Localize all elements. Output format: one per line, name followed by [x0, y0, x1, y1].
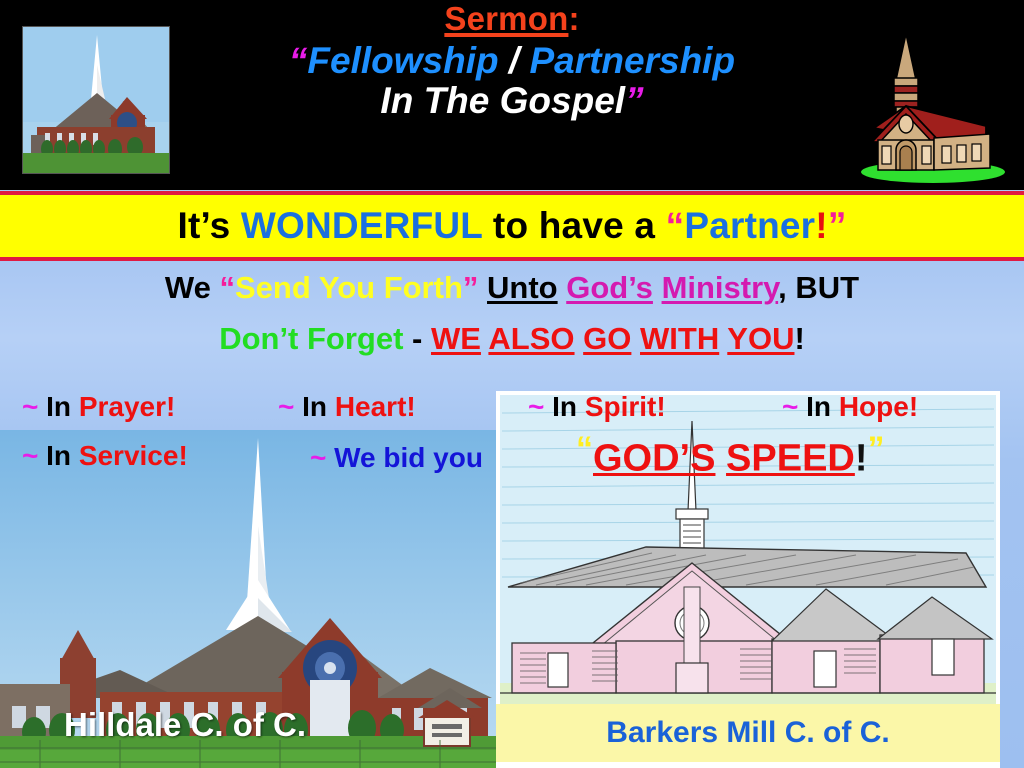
banner-seg-wonderful: WONDERFUL — [241, 205, 483, 246]
sermon-colon: : — [568, 0, 579, 37]
bullet-prayer: ~ In Prayer! — [22, 391, 175, 423]
bullet-hope-in: In — [798, 391, 838, 422]
sub1-space-2 — [558, 270, 567, 305]
sermon-title-line-1: “Fellowship / Partnership — [180, 42, 844, 80]
bullet-heart-word: Heart — [335, 391, 407, 422]
banner-seg-partner: Partner — [684, 205, 815, 246]
sub1-send-you-forth: Send You Forth — [235, 270, 463, 305]
gods-speed-word-2: SPEED — [726, 437, 855, 479]
bullet-tilde-icon: ~ — [310, 442, 326, 473]
title-in-the-gospel: In The Gospel — [380, 80, 625, 121]
quote-close-icon: ” — [625, 80, 644, 121]
sub2-dash: - — [403, 321, 431, 356]
bullet-tilde-icon: ~ — [782, 391, 798, 422]
sub2-also: ALSO — [488, 321, 574, 356]
gods-speed-quote-open-icon: “ — [576, 430, 593, 468]
bullet-prayer-in: In — [38, 391, 78, 422]
bullet-spirit-bang: ! — [656, 391, 665, 422]
header-church-photo — [22, 26, 170, 174]
bullet-prayer-word: Prayer — [79, 391, 166, 422]
banner-exclaim: ! — [815, 205, 828, 246]
bullet-spirit-in: In — [544, 391, 584, 422]
bullet-service-word: Service — [79, 440, 179, 471]
bullet-tilde-icon: ~ — [22, 391, 38, 422]
subtitle-line-1: We “Send You Forth” Unto God’s Ministry,… — [0, 270, 1024, 306]
highlight-banner: It’s WONDERFUL to have a “Partner!” — [0, 191, 1024, 261]
gods-speed-phrase: “GOD’S SPEED!” — [576, 430, 885, 480]
right-photo-caption: Barkers Mill C. of C. — [606, 716, 889, 750]
subtitle-line-2: Don’t Forget - WE ALSO GO WITH YOU! — [0, 321, 1024, 357]
sub2-dont-forget: Don’t Forget — [219, 321, 403, 356]
bullet-hope: ~ In Hope! — [782, 391, 918, 423]
right-photo-caption-band: Barkers Mill C. of C. — [496, 704, 1000, 762]
sermon-label-line: Sermon: — [180, 2, 844, 36]
sub1-gods: God’s — [566, 270, 653, 305]
bullet-tilde-icon: ~ — [278, 391, 294, 422]
bullet-heart: ~ In Heart! — [278, 391, 416, 423]
bullet-service-bang: ! — [178, 440, 187, 471]
church-clipart-icon — [858, 22, 1008, 184]
sub2-we: WE — [431, 321, 481, 356]
bullet-service: ~ In Service! — [22, 440, 188, 472]
bullet-tilde-icon: ~ — [528, 391, 544, 422]
bullet-prayer-bang: ! — [166, 391, 175, 422]
bullet-tilde-icon: ~ — [22, 440, 38, 471]
sermon-title-line-2: In The Gospel” — [180, 82, 844, 120]
sub1-we: We — [165, 270, 220, 305]
gods-speed-word-1: GOD’S — [593, 437, 715, 479]
header-church-clipart — [858, 22, 1008, 184]
bullet-service-in: In — [38, 440, 78, 471]
bullet-heart-bang: ! — [406, 391, 415, 422]
gods-speed-bang: ! — [855, 437, 868, 479]
sub2-with: WITH — [640, 321, 719, 356]
bullet-heart-in: In — [294, 391, 334, 422]
sub1-comma: , — [778, 270, 795, 305]
sermon-label: Sermon — [444, 0, 568, 37]
gods-speed-quote-close-icon: ” — [868, 430, 885, 468]
sub1-but: BUT — [795, 270, 859, 305]
title-partnership: Partnership — [529, 40, 735, 81]
banner-quote-close-icon: ” — [828, 205, 847, 246]
sub2-exclaim: ! — [794, 321, 804, 356]
bullet-spirit-word: Spirit — [585, 391, 657, 422]
sub1-quote-open-icon: “ — [219, 270, 235, 305]
hilldale-church-thumbnail-icon — [23, 27, 169, 173]
we-bid-you-text: We bid you — [326, 442, 483, 473]
bullet-spirit: ~ In Spirit! — [528, 391, 666, 423]
highlight-banner-text: It’s WONDERFUL to have a “Partner!” — [177, 205, 846, 247]
banner-seg-its: It’s — [177, 205, 240, 246]
bullet-hope-bang: ! — [909, 391, 918, 422]
quote-open-icon: “ — [289, 40, 308, 81]
bullet-we-bid-you: ~ We bid you — [310, 442, 483, 474]
header-band: Sermon: “Fellowship / Partnership In The… — [0, 0, 1024, 190]
banner-seg-tohavea: to have a — [482, 205, 665, 246]
sub2-sp2 — [575, 321, 584, 356]
title-fellowship: Fellowship — [307, 40, 498, 81]
sub1-space-1 — [478, 270, 487, 305]
gods-speed-space — [715, 437, 726, 479]
sub1-quote-close-icon: ” — [463, 270, 479, 305]
sub1-ministry: Ministry — [662, 270, 779, 305]
sub1-space-3 — [653, 270, 662, 305]
sub2-sp3 — [631, 321, 640, 356]
highlight-banner-inner: It’s WONDERFUL to have a “Partner!” — [0, 195, 1024, 257]
sub1-unto: Unto — [487, 270, 558, 305]
title-separator: / — [499, 40, 530, 81]
banner-quote-open-icon: “ — [666, 205, 685, 246]
sub2-you: YOU — [727, 321, 794, 356]
left-photo-caption: Hilldale C. of C. — [64, 706, 306, 744]
sub2-go: GO — [583, 321, 631, 356]
slide-root: Sermon: “Fellowship / Partnership In The… — [0, 0, 1024, 768]
sermon-title-block: Sermon: “Fellowship / Partnership In The… — [180, 2, 844, 120]
bullet-hope-word: Hope — [839, 391, 909, 422]
hilldale-church-photo: Hilldale C. of C. — [0, 430, 500, 768]
